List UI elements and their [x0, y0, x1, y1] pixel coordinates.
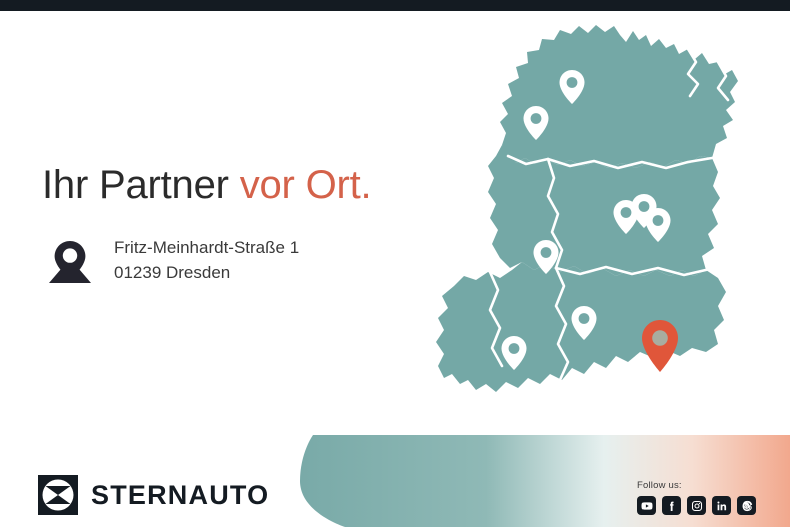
address-text: Fritz-Meinhardt-Straße 1 01239 Dresden	[114, 236, 299, 285]
germany-map	[430, 18, 770, 418]
slide-root: Ihr Partner vor Ort. Fritz-Meinhardt-Str…	[0, 0, 790, 527]
map-marker-highlight-dresden	[642, 320, 678, 372]
headline-plain: Ihr Partner	[42, 163, 240, 207]
location-pin-icon	[42, 236, 98, 286]
social-icon-row	[637, 496, 756, 515]
top-bar	[0, 0, 790, 11]
sternauto-logo[interactable]: STERNAUTO	[38, 473, 269, 517]
follow-us-label: Follow us:	[637, 480, 756, 491]
threads-icon[interactable]	[737, 496, 756, 515]
region-mecklenburg-vorpommern	[500, 25, 738, 168]
sternauto-wordmark: STERNAUTO	[91, 480, 269, 511]
linkedin-icon[interactable]	[712, 496, 731, 515]
headline-accent: vor Ort.	[240, 163, 372, 207]
address-line-2: 01239 Dresden	[114, 261, 299, 286]
instagram-icon[interactable]	[687, 496, 706, 515]
facebook-icon[interactable]	[662, 496, 681, 515]
page-title: Ihr Partner vor Ort.	[42, 162, 371, 208]
address-line-1: Fritz-Meinhardt-Straße 1	[114, 236, 299, 261]
youtube-icon[interactable]	[637, 496, 656, 515]
address-block: Fritz-Meinhardt-Straße 1 01239 Dresden	[42, 236, 299, 286]
social-links: Follow us:	[637, 480, 756, 515]
sternauto-emblem-icon	[38, 475, 78, 515]
